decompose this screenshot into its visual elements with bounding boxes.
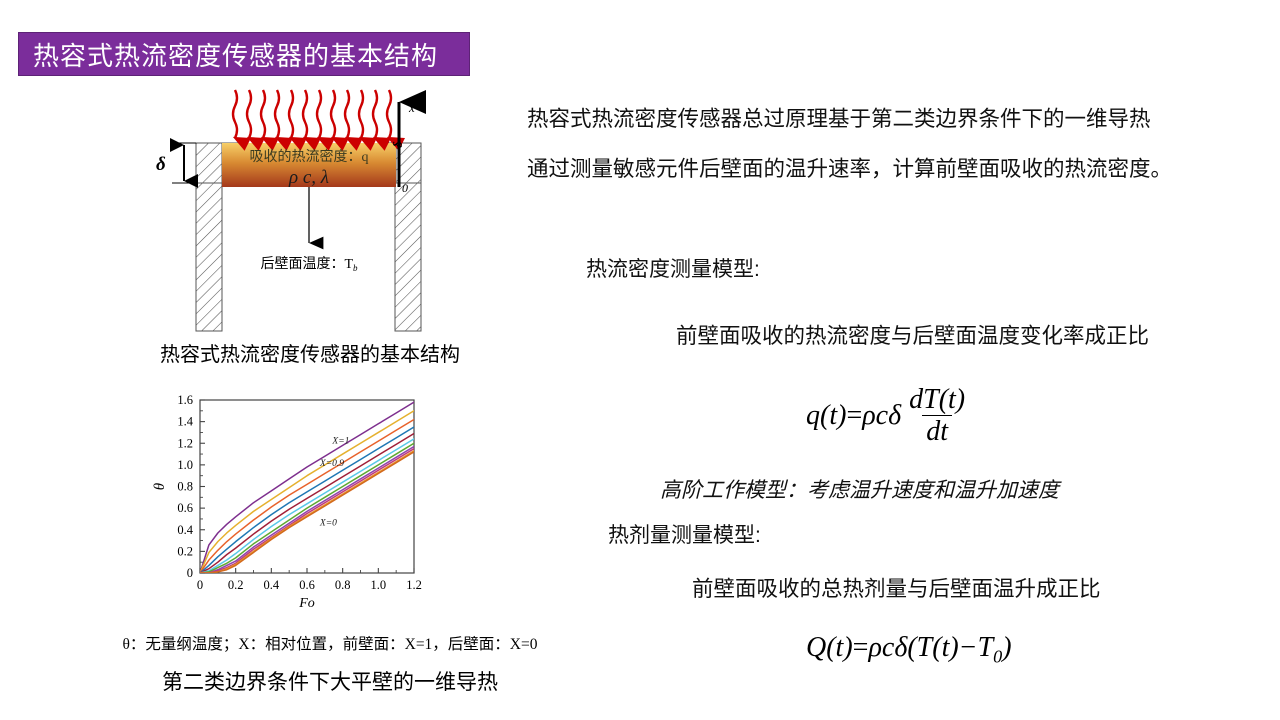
x-tick-label: 0: [197, 578, 203, 592]
eq2-subscript: 0: [993, 647, 1002, 667]
x-tick-label: 0.6: [299, 578, 315, 592]
heat-dose-model-text: 前壁面吸收的总热剂量与后壁面温升成正比: [692, 572, 1101, 603]
eq1-fraction: dT(t) dt: [905, 385, 969, 447]
sensor-diagram-svg: x δ 0 δ 吸收的热流密度：q ρ c, λ 后壁面温度：Tb: [150, 88, 470, 338]
slide-canvas: 热容式热流密度传感器的基本结构: [0, 0, 1280, 720]
eq2-close: ): [1002, 632, 1011, 663]
back-wall-temperature-label: 后壁面温度：Tb: [260, 256, 358, 273]
eq1-numerator: dT(t): [905, 385, 969, 415]
heat-dose-equation: Q(t)=ρcδ(T(t)−T0): [806, 632, 1012, 668]
y-tick-label: 1.0: [177, 458, 193, 472]
x-tick-label: 0.4: [264, 578, 280, 592]
y-tick-label: 1.2: [177, 436, 193, 450]
heat-flux-model-text: 前壁面吸收的热流密度与后壁面温度变化率成正比: [676, 319, 1149, 350]
sensor-figure-caption: 热容式热流密度传感器的基本结构: [100, 338, 520, 367]
y-tick-label: 0.4: [177, 523, 193, 537]
x-tick-label: 1.0: [371, 578, 387, 592]
chart-figure-caption: 第二类边界条件下大平壁的一维导热: [90, 666, 570, 696]
one-dimensional-conduction-chart: 00.20.40.60.81.01.21.41.600.20.40.60.81.…: [152, 388, 424, 618]
intro-line-2: 通过测量敏感元件后壁面的温升速率，计算前壁面吸收的热流密度。: [527, 152, 1172, 183]
x-tick-label: 0.8: [335, 578, 351, 592]
x-axis-title: Fo: [298, 596, 315, 611]
material-properties-label: ρ c, λ: [288, 167, 329, 188]
chart-annotation: X=0.9: [319, 459, 344, 469]
heat-flux-model-heading: 热流密度测量模型:: [586, 253, 760, 283]
y-tick-label: 0.6: [177, 501, 193, 515]
chart-plot-frame: [200, 400, 414, 573]
y-tick-label: 1.4: [177, 415, 193, 429]
y-axis-title: θ: [152, 482, 168, 490]
delta-left-label: δ: [156, 154, 166, 175]
delta-right-label: δ: [390, 141, 405, 148]
eq2-equals: =: [853, 632, 869, 663]
eq1-lhs: q: [806, 400, 820, 432]
slide-title-banner: 热容式热流密度传感器的基本结构: [18, 32, 470, 76]
eq1-coefficient: ρcδ: [862, 400, 901, 432]
heat-flux-arrows: [233, 90, 391, 138]
eq2-lhs: Q: [806, 632, 826, 663]
heat-flux-label: 吸收的热流密度：q: [250, 148, 369, 165]
eq2-lhs-arg: (t): [826, 632, 852, 663]
heat-dose-model-heading: 热剂量测量模型:: [608, 519, 761, 549]
chart-annotation: X=1: [331, 436, 349, 446]
x-tick-label: 0.2: [228, 578, 244, 592]
eq1-denominator: dt: [922, 415, 952, 446]
eq2-body: (T(t)−T: [907, 632, 993, 663]
eq1-lhs-arg: (t): [820, 400, 846, 432]
origin-label: 0: [402, 181, 408, 195]
eq1-equals: =: [846, 400, 862, 432]
chart-symbol-note: θ：无量纲温度；X：相对位置，前壁面：X=1，后壁面：X=0: [40, 632, 620, 654]
y-tick-label: 0.2: [177, 544, 193, 558]
y-tick-label: 1.6: [177, 393, 193, 407]
delta-dimension-left: δ: [156, 143, 196, 183]
sensor-structure-diagram: x δ 0 δ 吸收的热流密度：q ρ c, λ 后壁面温度：Tb: [150, 88, 470, 338]
y-tick-label: 0.8: [177, 480, 193, 494]
chart-svg: 00.20.40.60.81.01.21.41.600.20.40.60.81.…: [152, 388, 424, 618]
higher-order-model-heading: 高阶工作模型：考虑温升速度和温升加速度: [660, 474, 1059, 504]
y-tick-label: 0: [187, 566, 193, 580]
intro-line-1: 热容式热流密度传感器总过原理基于第二类边界条件下的一维导热: [527, 102, 1151, 133]
x-tick-label: 1.2: [406, 578, 422, 592]
eq2-coefficient: ρcδ: [868, 632, 907, 663]
chart-annotation: X=0: [319, 518, 337, 528]
x-axis-label: x: [408, 100, 415, 115]
heat-flux-equation: q(t)=ρcδ dT(t) dt: [806, 385, 969, 447]
page-title: 热容式热流密度传感器的基本结构: [33, 36, 438, 73]
